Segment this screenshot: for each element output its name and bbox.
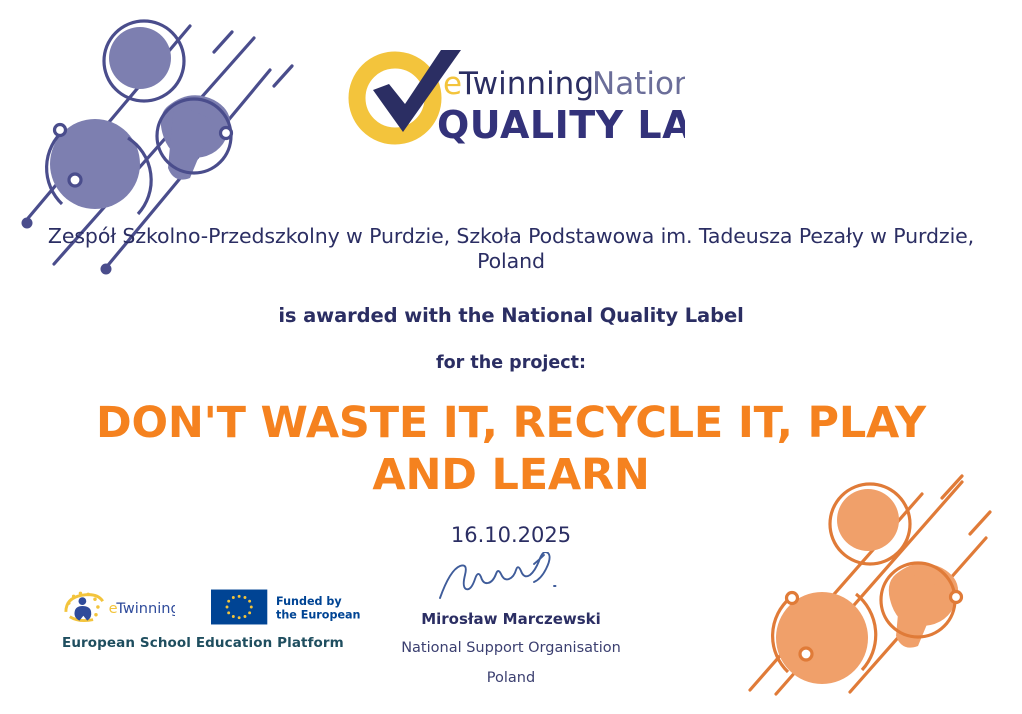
etwinning-national-quality-label-logo: e Twinning National QUALITY LABEL <box>0 48 1022 160</box>
award-date: 16.10.2025 <box>40 523 982 547</box>
logo-national-text: National <box>592 66 685 102</box>
logo-quality-label-text: QUALITY LABEL <box>437 103 685 147</box>
quality-label-logo-graphic: e Twinning National QUALITY LABEL <box>337 48 685 160</box>
certificate-page: e Twinning National QUALITY LABEL Zespół… <box>0 0 1022 714</box>
signatory-name: Mirosław Marczewski <box>0 610 1022 628</box>
signatory-country: Poland <box>0 670 1022 686</box>
award-statement: is awarded with the National Quality Lab… <box>40 304 982 327</box>
for-the-project-label: for the project: <box>40 353 982 373</box>
handwritten-signature <box>426 552 596 604</box>
logo-twinning-text: Twinning <box>458 66 594 102</box>
signatory-role: National Support Organisation <box>0 640 1022 656</box>
certificate-body: Zespół Szkolno-Przedszkolny w Purdzie, S… <box>40 224 982 547</box>
signature-block: Mirosław Marczewski National Support Org… <box>0 552 1022 686</box>
project-title: DON'T WASTE IT, RECYCLE IT, PLAY AND LEA… <box>40 397 982 501</box>
awardee-name: Zespół Szkolno-Przedszkolny w Purdzie, S… <box>40 224 982 274</box>
